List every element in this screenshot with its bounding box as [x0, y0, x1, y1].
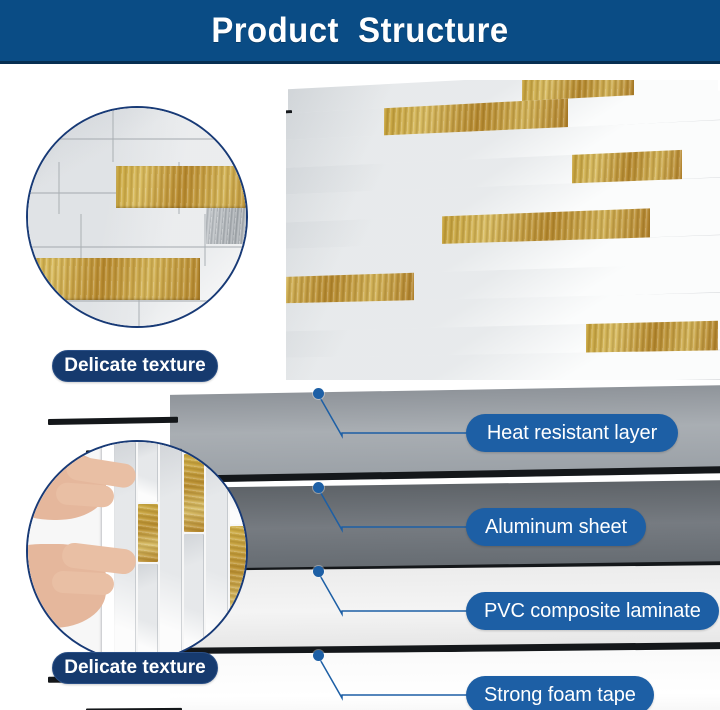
gold-strip — [26, 258, 200, 300]
gold-accent-strip — [184, 454, 204, 532]
gold-strip — [116, 166, 248, 208]
layer-step-tab — [86, 688, 182, 710]
callout-label-heat-resistant-layer[interactable]: Heat resistant layer — [466, 414, 678, 452]
inset-hands-peel — [26, 440, 248, 662]
marble-strip — [230, 638, 248, 660]
gold-accent-strip — [138, 504, 158, 562]
marble-strip — [184, 534, 204, 660]
thumb-lower — [51, 570, 114, 595]
inset-1-image — [28, 108, 246, 326]
marble-strip — [160, 442, 182, 660]
marble-strip — [184, 442, 204, 452]
header-banner: Product Structure — [0, 0, 720, 64]
marble-strip — [230, 442, 248, 524]
callout-label-aluminum-sheet[interactable]: Aluminum sheet — [466, 508, 646, 546]
gold-accent-strip — [230, 526, 248, 636]
callout-dot-strong-foam-tape — [313, 650, 324, 661]
callout-dot-aluminum-sheet — [313, 482, 324, 493]
marble-strip — [206, 442, 228, 660]
marble-tile-surface — [286, 80, 720, 380]
layer-step-tab — [48, 397, 178, 425]
gold-accent-tile — [586, 321, 718, 354]
callout-dot-heat-resistant-layer — [313, 388, 324, 399]
inset-1-label: Delicate texture — [52, 350, 218, 382]
inset-2-label: Delicate texture — [52, 652, 218, 684]
marble-strip — [138, 442, 158, 502]
inset-closeup-texture — [26, 106, 248, 328]
page-title: Product Structure — [22, 0, 699, 61]
brick-seam — [112, 108, 114, 162]
brick-seam — [58, 162, 60, 214]
inset-2-image — [28, 442, 246, 660]
thumb-upper — [55, 482, 114, 508]
infographic-canvas: Product Structure Heat resistant layerAl… — [0, 0, 720, 710]
silver-patch — [206, 208, 248, 244]
layer-step-edge — [48, 417, 178, 425]
callout-dot-pvc-composite-laminate — [313, 566, 324, 577]
callout-label-pvc-composite-laminate[interactable]: PVC composite laminate — [466, 592, 719, 630]
marble-strip — [138, 564, 158, 660]
callout-label-strong-foam-tape[interactable]: Strong foam tape — [466, 676, 654, 710]
